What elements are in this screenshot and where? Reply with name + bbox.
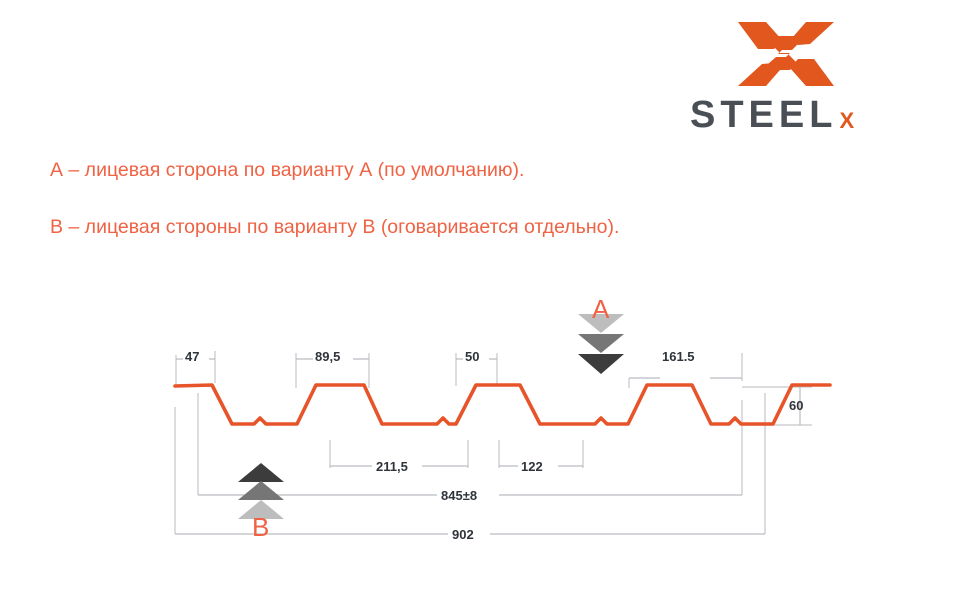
marker-b-letter: В (252, 512, 269, 543)
dim-label-47: 47 (185, 349, 199, 364)
profile-technical-drawing (0, 0, 970, 597)
marker-b-chevrons (238, 463, 284, 519)
marker-a-letter: А (592, 294, 609, 325)
dim-label-60: 60 (789, 398, 803, 413)
dim-label-89-5: 89,5 (315, 349, 340, 364)
dim-label-211-5: 211,5 (376, 459, 408, 474)
dim-label-161-5: 161.5 (662, 349, 695, 364)
dim-label-902: 902 (452, 527, 474, 542)
dim-label-845: 845±8 (441, 488, 477, 503)
dim-label-122: 122 (521, 459, 543, 474)
dim-label-50: 50 (465, 349, 479, 364)
steel-profile-outline (175, 385, 830, 424)
